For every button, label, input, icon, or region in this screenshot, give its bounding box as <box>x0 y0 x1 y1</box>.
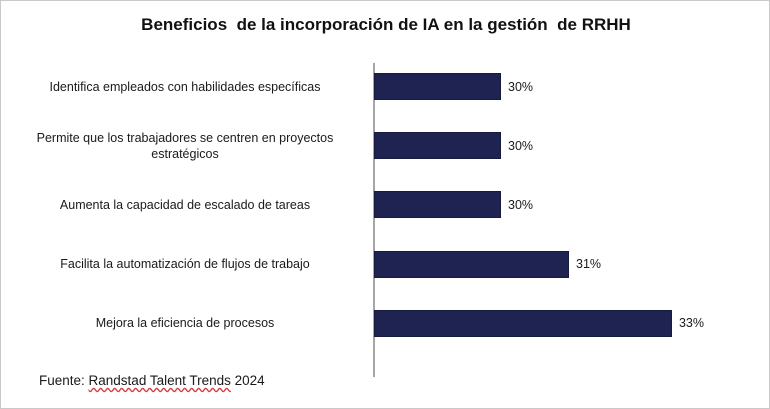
bar[interactable] <box>374 251 569 278</box>
source-prefix: Fuente: <box>39 373 89 388</box>
source-note: Fuente: Randstad Talent Trends 2024 <box>39 373 265 388</box>
bar[interactable] <box>374 310 672 337</box>
bar-value-label: 30% <box>508 139 533 153</box>
chart-canvas: Beneficios de la incorporación de IA en … <box>0 0 770 409</box>
source-name: Randstad Talent Trends <box>89 373 231 388</box>
category-label: Identifica empleados con habilidades esp… <box>5 79 365 95</box>
bar[interactable] <box>374 73 501 100</box>
category-label: Permite que los trabajadores se centren … <box>5 130 365 162</box>
bar[interactable] <box>374 132 501 159</box>
bar-group: 30% <box>374 191 674 218</box>
bar-value-label: 30% <box>508 198 533 212</box>
bar-row: Aumenta la capacidad de escalado de tare… <box>1 175 770 234</box>
category-label: Aumenta la capacidad de escalado de tare… <box>5 197 365 213</box>
category-label: Mejora la eficiencia de procesos <box>5 315 365 331</box>
bar-group: 30% <box>374 73 674 100</box>
plot-area: Identifica empleados con habilidades esp… <box>1 57 770 373</box>
category-label: Facilita la automatización de flujos de … <box>5 256 365 272</box>
bar-group: 33% <box>374 310 704 337</box>
bar-value-label: 33% <box>679 316 704 330</box>
bar-value-label: 30% <box>508 80 533 94</box>
chart-title: Beneficios de la incorporación de IA en … <box>1 15 770 35</box>
bar[interactable] <box>374 191 501 218</box>
bar-row: Identifica empleados con habilidades esp… <box>1 57 770 116</box>
bar-value-label: 31% <box>576 257 601 271</box>
source-year: 2024 <box>231 373 265 388</box>
bar-row: Mejora la eficiencia de procesos 33% <box>1 294 770 353</box>
bar-row: Facilita la automatización de flujos de … <box>1 235 770 294</box>
bar-group: 30% <box>374 132 674 159</box>
bar-group: 31% <box>374 251 674 278</box>
bar-row: Permite que los trabajadores se centren … <box>1 116 770 175</box>
